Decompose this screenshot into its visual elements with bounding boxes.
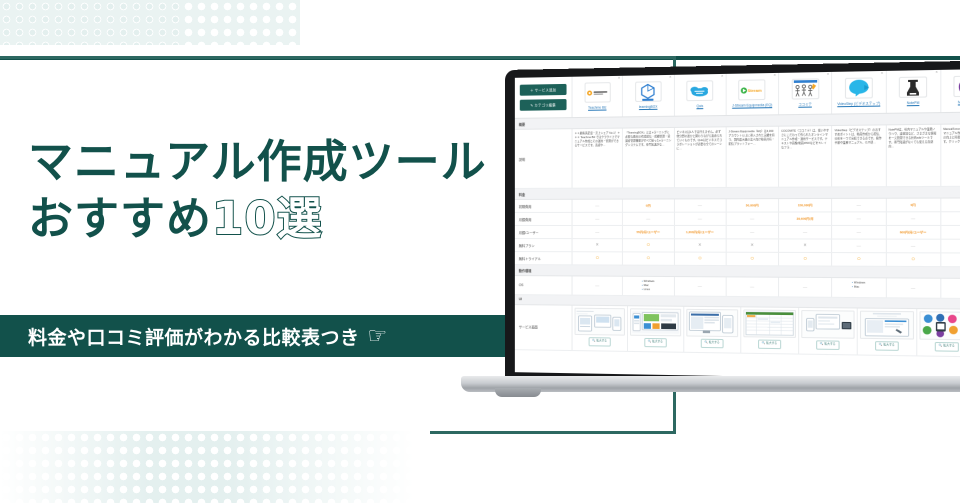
close-icon[interactable]: ×	[618, 77, 620, 81]
table-cell: —	[573, 226, 624, 238]
table-cell: —	[623, 213, 674, 225]
table-cell: 🔍 拡大する	[741, 307, 799, 353]
table-cell: —	[726, 226, 779, 238]
available-icon: ○	[698, 256, 702, 262]
hero-headline: マニュアル作成ツール おすすめ10選	[28, 135, 528, 247]
table-cell: —	[832, 212, 886, 225]
table-row-initial-cost: 初期費用 —0円—50,000円150,000円—0円0円	[515, 198, 960, 213]
close-icon[interactable]: ×	[721, 75, 723, 79]
service-column-header: ×NotePM	[886, 70, 941, 113]
table-cell: ○	[779, 253, 832, 266]
available-icon: ○	[646, 256, 650, 262]
table-cell: 0円	[941, 198, 960, 211]
cocomite-logo	[791, 78, 819, 99]
service-name-link[interactable]: learningBOX	[625, 105, 671, 110]
empty-value: —	[857, 229, 861, 235]
jstream-equipmedia-logo: Stream	[739, 79, 766, 100]
empty-value: —	[803, 284, 807, 290]
available-icon: ○	[911, 256, 915, 262]
table-cell: —	[886, 212, 941, 225]
table-cell: 「TeamingBOX」とは eラーニングに必要な教材の作成配信・成績管理・受講…	[623, 128, 674, 187]
headline-line-2: おすすめ10選	[28, 192, 528, 247]
table-cell: —	[674, 199, 726, 211]
empty-value: —	[750, 284, 754, 290]
table-cell: 55円/月/ユーザー	[623, 226, 674, 238]
headline-line-1: マニュアル作成ツール	[28, 135, 528, 188]
zoom-button[interactable]: 🔍 拡大する	[701, 338, 724, 348]
hero-subtitle-bar: 料金や口コミ評価がわかる比較表つき ☞	[0, 315, 520, 357]
row-cells-initial-cost: —0円—50,000円150,000円—0円0円	[573, 198, 960, 211]
service-name-link[interactable]: NotePM	[889, 101, 938, 106]
table-cell: —	[779, 226, 832, 238]
table-cell: ○	[726, 253, 779, 266]
close-icon[interactable]: ×	[881, 72, 883, 76]
table-cell: —	[573, 213, 624, 225]
price-value: 0円	[911, 203, 916, 208]
table-cell: —	[832, 199, 886, 212]
table-toolbar: ＋ サービス追加 ✎ カテゴリ編集	[515, 77, 573, 118]
service-column-header: ×learningBOX	[623, 75, 674, 117]
table-cell: ○	[886, 253, 941, 266]
unavailable-icon: ×	[804, 243, 807, 248]
table-cell: ×	[674, 239, 726, 251]
table-cell: —	[726, 277, 779, 296]
zoom-button[interactable]: 🔍 拡大する	[935, 342, 960, 352]
zoom-button[interactable]: 🔍 拡大する	[816, 340, 840, 350]
table-cell: WindowsMac	[832, 278, 886, 297]
table-cell: ○	[573, 252, 624, 264]
laptop-base-notch	[495, 388, 541, 397]
service-screenshot[interactable]	[801, 310, 854, 339]
service-screenshot[interactable]	[630, 308, 681, 336]
table-cell: —	[726, 213, 779, 225]
os-list: WindowsMacLinux	[642, 280, 654, 292]
laptop-mockup: ＋ サービス追加 ✎ カテゴリ編集 ×Teachme Biz×learningB…	[505, 70, 960, 400]
table-cell: 600円/月/ユーザー	[886, 226, 941, 239]
empty-value: —	[595, 216, 599, 222]
service-column-header: ×VideoStep (ビデオステップ)	[832, 71, 886, 114]
edit-category-button[interactable]: ✎ カテゴリ編集	[520, 99, 567, 111]
table-cell: 1,200円/月/ユーザー	[674, 226, 726, 238]
service-column-header: ×StreamJ-Stream Equipmedia (EQ)	[726, 73, 779, 115]
halftone-fade-left	[0, 431, 150, 503]
row-label-free-plan: 無料プラン	[515, 239, 573, 251]
headline-line-2-outline: 10選	[212, 192, 323, 245]
empty-value: —	[911, 215, 915, 221]
unavailable-icon: ×	[698, 243, 701, 248]
row-label-free-trial: 無料トライアル	[515, 252, 573, 264]
empty-value: —	[698, 216, 702, 222]
table-cell: —	[832, 226, 886, 239]
table-cell: 0円	[623, 199, 674, 211]
service-name-link[interactable]: Teachme Biz	[575, 105, 621, 110]
empty-value: —	[857, 243, 861, 249]
table-cell: 50,000円	[726, 199, 779, 212]
empty-value: —	[750, 216, 754, 222]
empty-value: —	[911, 285, 915, 291]
pointing-hand-right-icon: ☞	[368, 325, 388, 347]
videostep-logo	[845, 77, 873, 98]
table-cell: ×	[726, 239, 779, 252]
empty-value: —	[646, 216, 650, 222]
available-icon: ○	[750, 256, 754, 262]
table-cell: —	[941, 212, 960, 225]
row-label-monthly-cost: 月額費用	[515, 213, 573, 225]
table-cell: 🔍 拡大する	[684, 306, 741, 352]
service-column-header: ×ココミテ	[779, 72, 832, 114]
laptop-screen-bezel: ＋ サービス追加 ✎ カテゴリ編集 ×Teachme Biz×learningB…	[505, 60, 960, 391]
hero-subtitle-text: 料金や口コミ評価がわかる比較表つき	[28, 323, 360, 350]
table-cell: —	[779, 278, 832, 297]
table-cell: ＊＊顧客満足度・売上シェア No.1！＊＊＊ Teachme Biz ではクラウ…	[573, 129, 624, 188]
price-value: 55円/月/ユーザー	[637, 230, 660, 235]
close-icon[interactable]: ×	[669, 76, 671, 80]
service-name-link[interactable]: ココミテ	[781, 102, 829, 107]
table-row-description: 説明 ＊＊顧客満足度・売上シェア No.1！＊＊＊ Teachme Biz では…	[515, 124, 960, 189]
close-icon[interactable]: ×	[774, 74, 776, 78]
service-name-link[interactable]: Quis	[677, 104, 724, 109]
table-cell: ○	[832, 253, 886, 266]
table-cell: 🔍 拡大する	[628, 306, 684, 352]
table-cell: 🔍 拡大する	[573, 305, 628, 350]
service-screenshot[interactable]	[860, 310, 914, 339]
row-cells-monthly-cost: ————29,600円/月———	[573, 212, 960, 225]
table-cell: 🔍 拡大する	[858, 308, 918, 355]
table-cell: NotePMは、社内マニュアルや業務ノウハウ、議事録など、さまざまな情報を一元管…	[886, 125, 941, 186]
learningbox-logo	[635, 81, 662, 102]
close-icon[interactable]: ×	[935, 71, 937, 75]
table-cell: ×	[779, 239, 832, 252]
unavailable-icon: ×	[751, 243, 754, 248]
headline-line-2-plain: おすすめ	[28, 192, 212, 245]
row-cells-description: ＊＊顧客満足度・売上シェア No.1！＊＊＊ Teachme Biz ではクラウ…	[573, 124, 960, 188]
table-cell: —	[886, 278, 941, 297]
os-list-item: Linux	[642, 288, 654, 292]
row-cells-per-user-cost: —55円/月/ユーザー1,200円/月/ユーザー———600円/月/ユーザー3,…	[573, 226, 960, 239]
unavailable-icon: ×	[596, 243, 599, 248]
service-column-header: ×Teachme Biz	[573, 76, 624, 117]
service-name-link[interactable]: VideoStep (ビデオステップ)	[834, 101, 883, 106]
row-cells-os: —WindowsMacLinux———WindowsMac——	[573, 276, 960, 297]
table-row-service-screen: サービス画面 🔍 拡大する🔍 拡大する🔍 拡大する🔍 拡大する🔍 拡大する🔍 拡…	[515, 305, 960, 358]
empty-value: —	[911, 243, 915, 249]
table-cell: COCOMITE（ココミテ）は、使いやすさにこだわって作られたオンラインマニュア…	[779, 126, 832, 187]
price-value: 600円/月/ユーザー	[900, 230, 927, 235]
table-cell: —	[674, 277, 726, 295]
row-label-os: OS	[515, 276, 573, 294]
price-value: 0円	[646, 203, 651, 208]
table-cell: 0円	[886, 199, 941, 212]
table-cell: —	[674, 213, 726, 225]
empty-value: —	[595, 282, 599, 288]
row-label-service-screen: サービス画面	[515, 305, 573, 350]
table-cell: —	[573, 276, 624, 294]
comparison-table-app: ＋ サービス追加 ✎ カテゴリ編集 ×Teachme Biz×learningB…	[515, 69, 960, 381]
quis-logo	[686, 80, 713, 101]
available-icon: ○	[595, 255, 599, 261]
table-cell: 🔍 拡大する	[799, 308, 858, 355]
available-icon: ○	[803, 256, 807, 262]
table-cell: J-Stream Equipmedia（EQ）は4,000アカウント以上に導入さ…	[726, 127, 779, 187]
row-label-initial-cost: 初期費用	[515, 200, 573, 212]
price-value: 50,000円	[746, 203, 759, 208]
table-cell: —	[941, 279, 960, 298]
teachme-biz-logo	[584, 82, 610, 103]
manualforce-logo	[954, 75, 960, 97]
table-cell: 150,000円	[779, 199, 832, 212]
table-cell: ×	[941, 253, 960, 266]
table-cell: ×	[573, 239, 624, 251]
service-screenshot[interactable]	[743, 309, 796, 337]
service-screenshot[interactable]	[919, 311, 960, 340]
table-cell: —	[573, 200, 624, 212]
zoom-button[interactable]: 🔍 拡大する	[588, 337, 611, 347]
row-cells-free-trial: ○○○○○○○×	[573, 252, 960, 266]
service-screenshot[interactable]	[575, 307, 625, 335]
table-cell: ○	[623, 239, 674, 251]
empty-value: —	[857, 202, 861, 208]
svg-text:Stream: Stream	[747, 87, 762, 92]
comparison-table-header: ＋ サービス追加 ✎ カテゴリ編集 ×Teachme Biz×learningB…	[515, 69, 960, 119]
empty-value: —	[803, 229, 807, 235]
empty-value: —	[595, 229, 599, 235]
zoom-button[interactable]: 🔍 拡大する	[875, 341, 899, 351]
empty-value: —	[698, 202, 702, 208]
notepm-logo	[899, 76, 927, 97]
price-value: 1,200円/月/ユーザー	[686, 230, 714, 235]
empty-value: —	[750, 229, 754, 235]
empty-value: —	[857, 216, 861, 222]
empty-value: —	[595, 203, 599, 209]
table-cell: WindowsMacLinux	[623, 277, 674, 295]
table-cell: ○	[623, 252, 674, 264]
available-icon: ○	[646, 242, 650, 248]
service-column-header: ×ManualForce	[941, 69, 960, 112]
halftone-dots-top-small	[0, 0, 180, 45]
table-row-per-user-cost: 月額/ユーザー —55円/月/ユーザー1,200円/月/ユーザー———600円/…	[515, 226, 960, 240]
row-label-description: 説明	[515, 129, 573, 188]
price-value: 29,600円/月	[797, 216, 814, 221]
table-cell: 3,500円/月	[941, 226, 960, 239]
available-icon: ○	[857, 256, 861, 262]
zoom-button[interactable]: 🔍 拡大する	[758, 339, 781, 349]
row-cells-service-screen: 🔍 拡大する🔍 拡大する🔍 拡大する🔍 拡大する🔍 拡大する🔍 拡大する🔍 拡大…	[573, 305, 960, 357]
table-cell: ManualForceのおすすめポイントは、マニュアル作成が自動化され、利便性の…	[941, 124, 960, 186]
table-cell: 🔍 拡大する	[917, 309, 960, 356]
service-name-link[interactable]: J-Stream Equipmedia (EQ)	[729, 103, 776, 108]
os-list: WindowsMac	[852, 281, 865, 289]
os-list-item: Mac	[852, 285, 865, 289]
service-screenshot[interactable]	[686, 309, 738, 337]
service-column-header: ×Quis	[674, 74, 726, 116]
close-icon[interactable]: ×	[827, 73, 829, 77]
table-row-monthly-cost: 月額費用 ————29,600円/月———	[515, 212, 960, 226]
table-cell: —	[886, 240, 941, 253]
comparison-table: ＋ サービス追加 ✎ カテゴリ編集 ×Teachme Biz×learningB…	[515, 69, 960, 357]
price-value: 150,000円	[798, 203, 813, 208]
table-cell: —	[832, 240, 886, 253]
add-service-button[interactable]: ＋ サービス追加	[520, 84, 567, 96]
table-cell: VideoStep（ビデオステップ）のおすすめポイントは、動画作成から配信、分析…	[832, 125, 886, 186]
table-cell: ○	[674, 253, 726, 266]
zoom-button[interactable]: 🔍 拡大する	[644, 338, 667, 348]
service-columns: ×Teachme Biz×learningBOX×Quis×StreamJ-St…	[573, 69, 960, 117]
halftone-fade-right	[230, 431, 430, 503]
empty-value: —	[698, 283, 702, 289]
service-name-link[interactable]: ManualForce	[943, 100, 960, 105]
row-cells-free-plan: ×○×××———	[573, 239, 960, 252]
table-cell: ビジネスは1人では行えません。必ず他分野の誰かと関わりながら進められていくもので…	[674, 127, 726, 187]
table-cell: —	[941, 240, 960, 253]
table-cell: 29,600円/月	[779, 212, 832, 225]
row-label-per-user-cost: 月額/ユーザー	[515, 226, 573, 238]
